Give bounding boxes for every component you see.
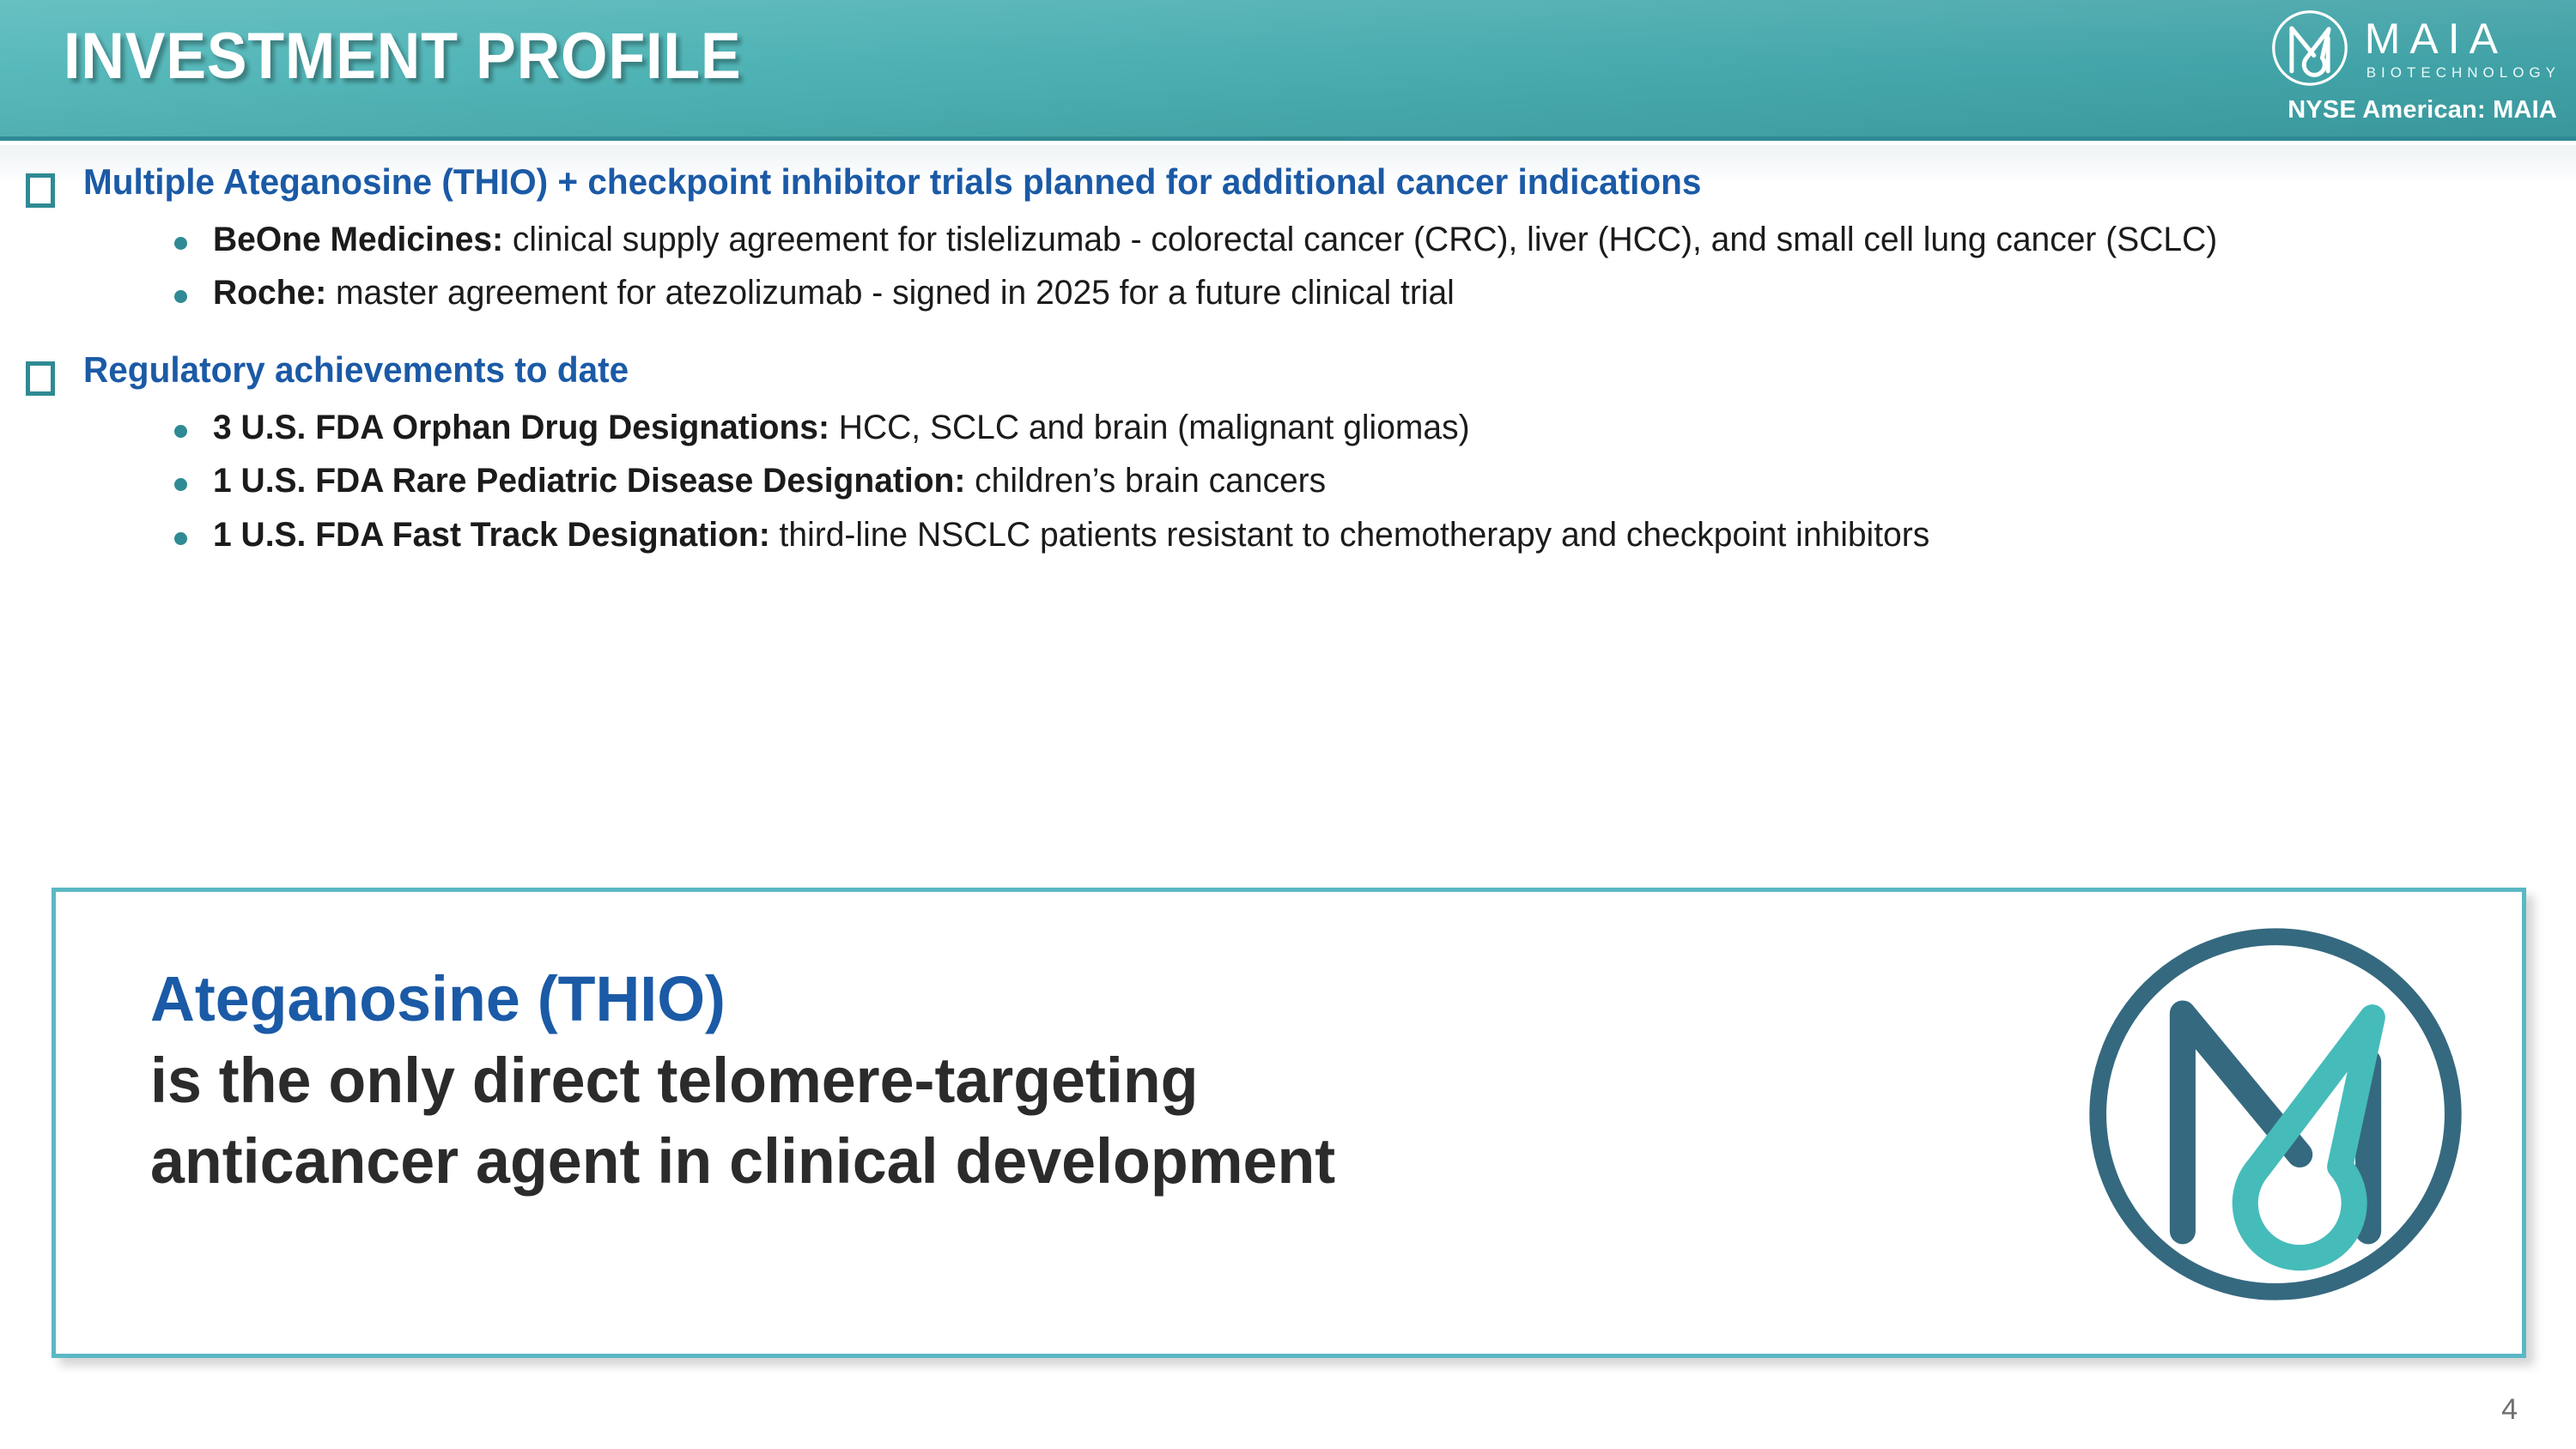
bullet-heading: Multiple Ateganosine (THIO) + checkpoint… (83, 161, 1701, 203)
list-item-lead: 1 U.S. FDA Fast Track Designation: (213, 516, 770, 554)
dot-icon (174, 237, 187, 250)
list-item-text: BeOne Medicines: clinical supply agreeme… (213, 218, 2217, 261)
brand-wordmark-main: MAIA (2365, 17, 2507, 60)
list-item-body: HCC, SCLC and brain (malignant gliomas) (829, 409, 1470, 446)
dot-icon (174, 425, 187, 438)
brand-wordmark-sub: BIOTECHNOLOGY (2366, 65, 2561, 80)
maia-monogram-icon (2074, 912, 2477, 1316)
maia-monogram-icon (2269, 7, 2351, 89)
bullet-group: Multiple Ateganosine (THIO) + checkpoint… (0, 155, 2576, 315)
list-item: 1 U.S. FDA Rare Pediatric Disease Design… (0, 459, 2576, 502)
callout-line-1: Ateganosine (THIO) (150, 959, 1335, 1040)
checkbox-outline-icon (26, 173, 55, 208)
callout-line-2: is the only direct telomere-targeting (150, 1040, 1335, 1122)
dot-icon (174, 478, 187, 491)
brand-logo-row: MAIA BIOTECHNOLOGY (2269, 7, 2561, 89)
list-item: 3 U.S. FDA Orphan Drug Designations: HCC… (0, 406, 2576, 449)
brand-logo: MAIA BIOTECHNOLOGY NYSE American: MAIA (2269, 7, 2561, 124)
bullet-heading-row: Multiple Ateganosine (THIO) + checkpoint… (0, 161, 2576, 208)
slide-header: INVESTMENT PROFILE MAIA BIOTECHNOLOGY NY… (0, 0, 2576, 141)
bullet-heading: Regulatory achievements to date (83, 349, 629, 391)
page-title: INVESTMENT PROFILE (64, 19, 742, 94)
list-item-text: 1 U.S. FDA Fast Track Designation: third… (213, 513, 1929, 556)
dot-icon (174, 532, 187, 545)
checkbox-outline-icon (26, 361, 55, 396)
brand-wordmark: MAIA BIOTECHNOLOGY (2365, 17, 2561, 80)
list-item-body: master agreement for atezolizumab - sign… (326, 274, 1455, 312)
bullet-group: Regulatory achievements to date 3 U.S. F… (0, 315, 2576, 556)
list-item-text: 3 U.S. FDA Orphan Drug Designations: HCC… (213, 406, 1470, 449)
dot-icon (174, 290, 187, 303)
list-item-lead: 3 U.S. FDA Orphan Drug Designations: (213, 409, 829, 446)
callout-line-3: anticancer agent in clinical development (150, 1121, 1335, 1203)
list-item: BeOne Medicines: clinical supply agreeme… (0, 218, 2576, 261)
list-item-lead: BeOne Medicines: (213, 221, 503, 258)
list-item-body: children’s brain cancers (965, 462, 1326, 500)
callout-box: Ateganosine (THIO) is the only direct te… (52, 888, 2526, 1358)
bullet-heading-row: Regulatory achievements to date (0, 349, 2576, 396)
list-item-lead: 1 U.S. FDA Rare Pediatric Disease Design… (213, 462, 965, 500)
list-item-text: 1 U.S. FDA Rare Pediatric Disease Design… (213, 459, 1326, 502)
list-item-body: clinical supply agreement for tislelizum… (503, 221, 2217, 258)
slide: INVESTMENT PROFILE MAIA BIOTECHNOLOGY NY… (0, 0, 2576, 1449)
list-item-lead: Roche: (213, 274, 326, 312)
list-item: 1 U.S. FDA Fast Track Designation: third… (0, 513, 2576, 556)
ticker-label: NYSE American: MAIA (2287, 96, 2557, 124)
slide-body: Multiple Ateganosine (THIO) + checkpoint… (0, 155, 2576, 556)
callout-text: Ateganosine (THIO) is the only direct te… (150, 959, 1335, 1203)
page-number: 4 (2501, 1393, 2518, 1427)
list-item-body: third-line NSCLC patients resistant to c… (770, 516, 1930, 554)
list-item-text: Roche: master agreement for atezolizumab… (213, 271, 1455, 314)
list-item: Roche: master agreement for atezolizumab… (0, 271, 2576, 314)
